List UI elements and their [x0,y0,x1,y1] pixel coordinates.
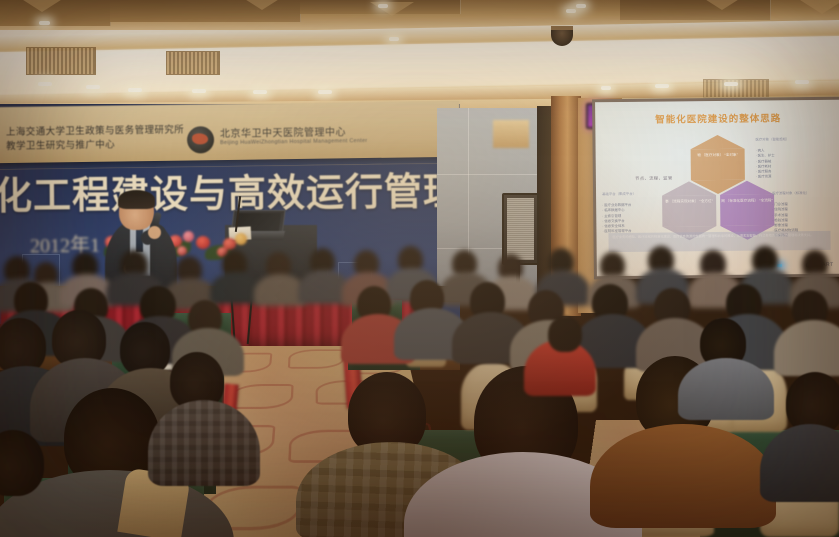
slide-block-left-items: · 医疗业务数据平台 · 临床数据中心 · 主索引管理 · 信息交换平台 · 信… [602,203,631,233]
hexagon-bottom-right: 网 （标准化医疗流程） “全流程” [720,194,774,226]
slide-footer-text: 医疗业务的感知、医疗流程的标准化建设、医疗信息资源的全面统一管理和共享的建设，从… [608,231,830,252]
hexagon-top: 物 （医疗对象） “全对象” [691,149,745,181]
banner-title: 化工程建设与高效运行管理培训班 [0,174,394,216]
hexagon-center-label: 节点、流程、监管 [627,175,681,182]
organization-name-chinese: 北京华卫中天医院管理中心 [220,123,346,140]
attendee-body [774,320,839,376]
institute-line-1: 上海交通大学卫生政策与医务管理研究所 [6,122,184,138]
slide-title: 智能化医院建设的整体思路 [595,110,839,127]
hexagon-bottom-left-label: 事 （流程实现对象） “全方位” [662,199,716,205]
hexagon-bottom-right-label: 网 （标准化医疗流程） “全流程” [720,198,774,204]
hexagon-top-label: 物 （医疗对象） “全对象” [691,153,745,159]
slide-block-top-right-items: · 病人 · 医生、护士 · 医疗器械 · 医疗耗材 · 医疗服务 · 医疗资源 [756,149,775,179]
slide-block-right-heading: 医疗流程对象（标准化） [772,191,834,197]
hexagon-bottom-left: 事 （流程实现对象） “全方位” [662,195,716,227]
attendee-head [548,316,582,352]
wall-light-recess [493,120,529,148]
institute-line-2: 教学卫生研究与推广中心 [6,137,115,153]
slide-block-left: 基础平台（集成平台） · 医疗业务数据平台 · 临床数据中心 · 主索引管理 ·… [602,187,664,235]
organization-name-english: Beijing HuaWeiZhongtian Hospital Managem… [220,138,367,146]
organization-logo-icon [187,126,214,153]
air-vent-icon [166,51,220,75]
ceiling [0,0,839,112]
slide-block-left-heading: 基础平台（集成平台） [602,192,664,198]
presenter-hand [148,226,161,239]
air-vent-icon [26,47,96,75]
slide-block-top-right-heading: 医疗对象（智能感知） [755,137,825,143]
conference-photo: 上海交通大学卫生政策与医务管理研究所 教学卫生研究与推广中心 北京华卫中天医院管… [0,0,839,537]
presenter-hair [118,190,155,209]
slide-block-top-right: 医疗对象（智能感知） · 病人 · 医生、护士 · 医疗器械 · 医疗耗材 · … [755,132,825,180]
